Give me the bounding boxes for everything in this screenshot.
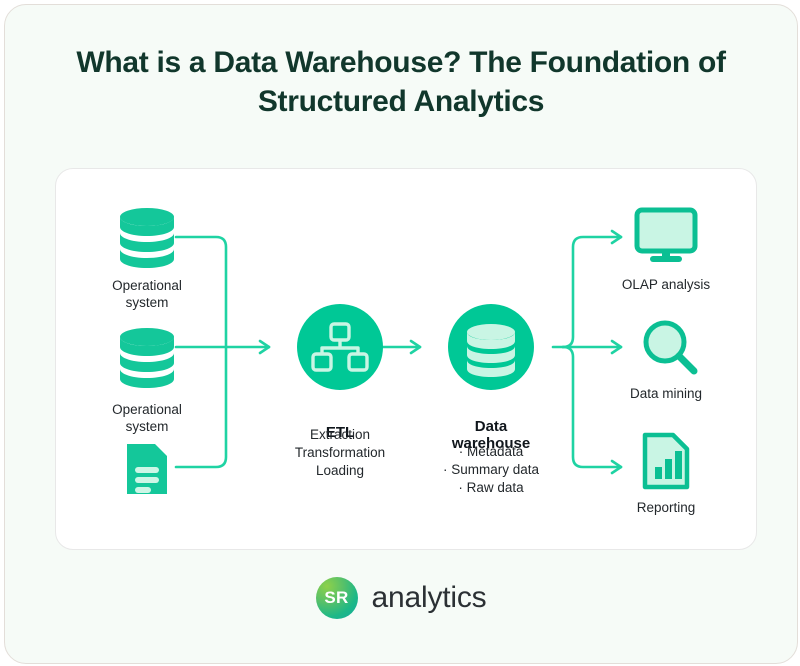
page-frame: What is a Data Warehouse? The Foundation… <box>4 4 798 664</box>
etl-line-2: Transformation <box>275 444 405 461</box>
logo-wordmark: analytics <box>372 581 487 615</box>
warehouse-circle <box>436 292 546 402</box>
report-chart-document-icon <box>641 431 693 491</box>
etl-line-3: Loading <box>275 462 405 479</box>
file-document-icon <box>124 441 170 497</box>
source-label-2: Operational system <box>87 401 207 435</box>
monitor-icon <box>632 207 700 265</box>
diagram-card: Operational system Operational system <box>55 168 757 550</box>
database-cylinder-icon <box>118 327 176 389</box>
output-label-reporting: Reporting <box>601 499 731 516</box>
output-label-olap: OLAP analysis <box>601 276 731 293</box>
magnifier-icon <box>639 316 701 378</box>
page-title: What is a Data Warehouse? The Foundation… <box>45 43 757 121</box>
source-label-1: Operational system <box>87 277 207 311</box>
warehouse-bullet-1: · Metadata <box>426 443 556 460</box>
database-cylinder-icon <box>118 207 176 269</box>
logo-mark-icon: SR <box>316 577 358 619</box>
etl-circle <box>285 292 395 402</box>
warehouse-bullet-2: · Summary data <box>426 461 556 478</box>
warehouse-bullet-3: · Raw data <box>426 479 556 496</box>
brand-logo: SR analytics <box>5 577 797 619</box>
output-label-mining: Data mining <box>601 385 731 402</box>
etl-line-1: Extraction <box>275 426 405 443</box>
